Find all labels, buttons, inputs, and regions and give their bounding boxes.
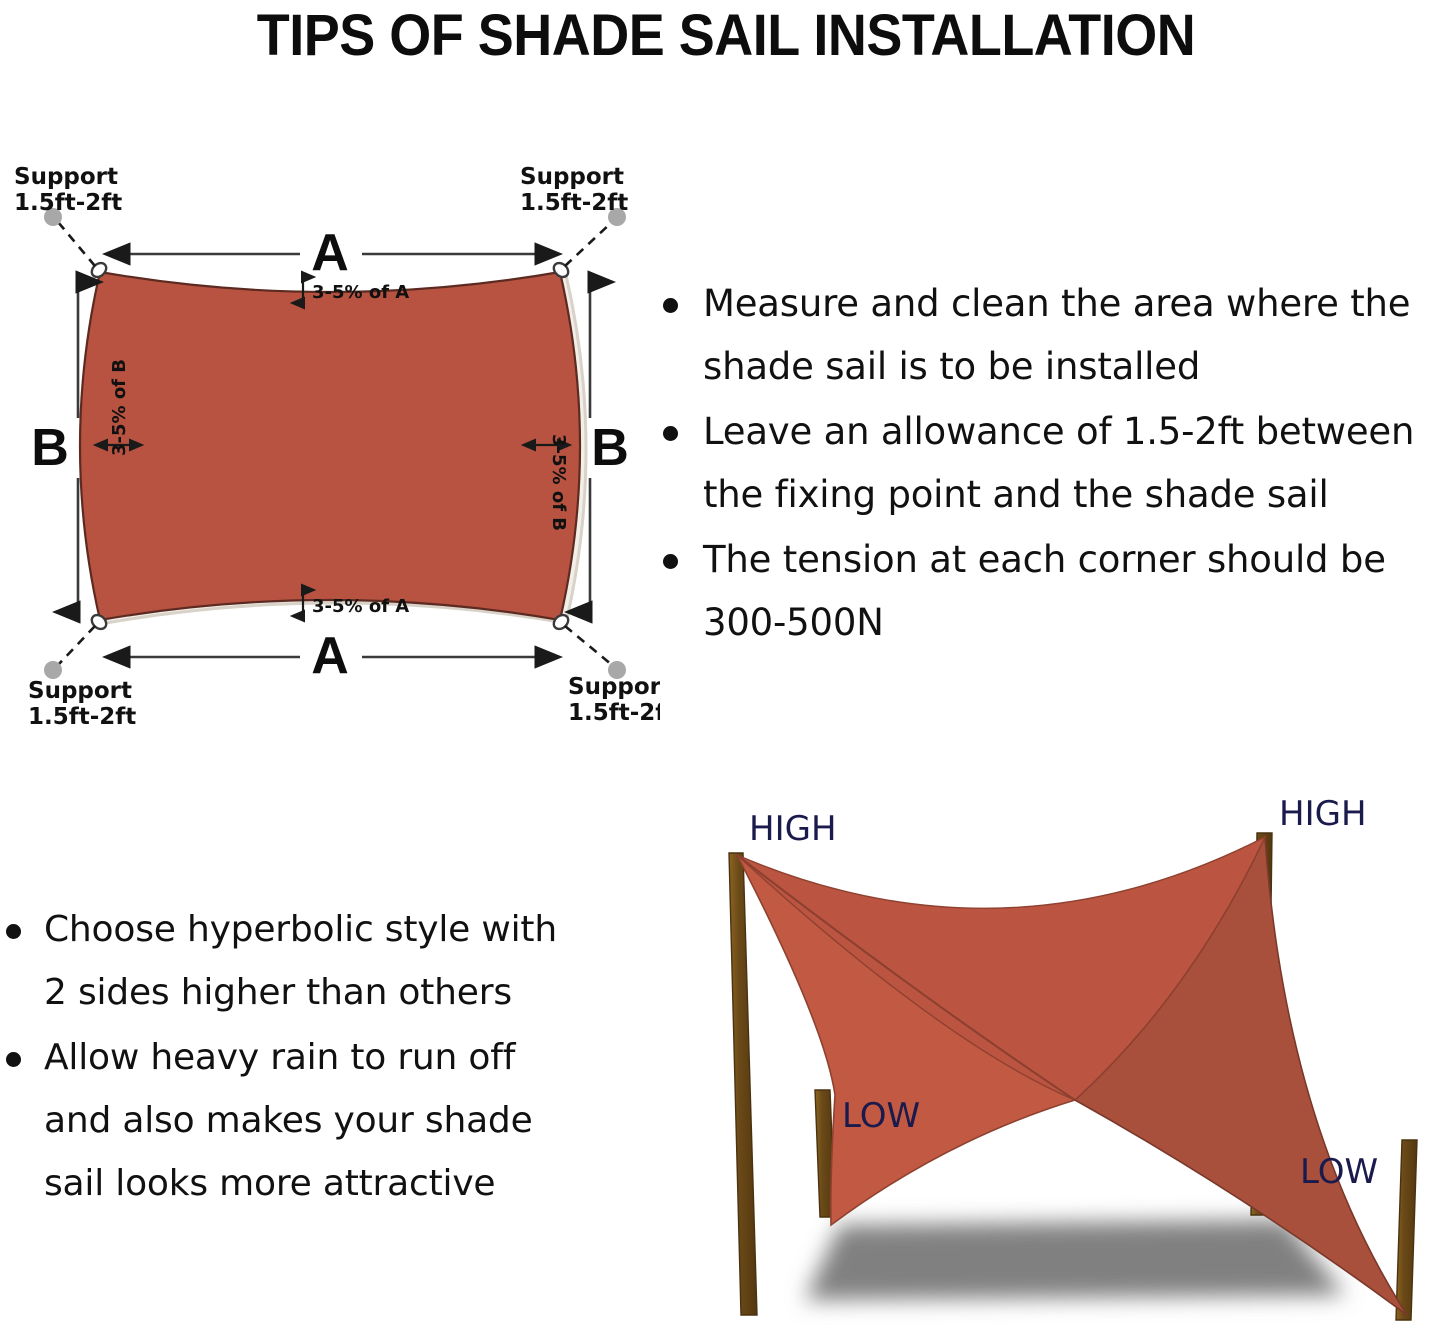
curve-label-top: 3-5% of A <box>312 282 409 303</box>
tip-line-1: Allow heavy rain to run off <box>44 1037 515 1078</box>
support-label-bottom-left-value: 1.5ft-2ft <box>28 704 136 730</box>
curve-label-left: 3-5% of B <box>109 359 130 456</box>
tips-ul-bottom: Choose hyperbolic style with 2 sides hig… <box>0 898 620 1215</box>
hyperbolic-sail-diagram: HIGH HIGH LOW LOW <box>645 795 1452 1325</box>
list-item: Choose hyperbolic style with 2 sides hig… <box>0 898 620 1024</box>
dim-label-left-B: B <box>31 419 69 477</box>
post-right-low <box>1396 1140 1417 1320</box>
tips-list-hyperbolic: Choose hyperbolic style with 2 sides hig… <box>0 898 620 1217</box>
tip-line-2: and also makes your shade <box>44 1100 533 1141</box>
tip-line-1: Measure and clean the area where the <box>703 282 1410 325</box>
tip-line-1: The tension at each corner should be <box>703 538 1386 581</box>
support-label-top-right-value: 1.5ft-2ft <box>520 190 628 216</box>
tips-list-installation: Measure and clean the area where the sha… <box>655 272 1452 656</box>
bullet-icon <box>663 298 678 313</box>
bullet-icon <box>6 924 21 939</box>
dim-label-top-A: A <box>311 224 349 282</box>
ground-shadow <box>805 1220 1345 1300</box>
curve-label-right: 3-5% of B <box>548 434 569 531</box>
list-item: Leave an allowance of 1.5-2ft between th… <box>655 400 1452 526</box>
label-high-left: HIGH <box>749 809 837 849</box>
infographic-page: TIPS OF SHADE SAIL INSTALLATION <box>0 0 1452 1325</box>
tip-line-1: Leave an allowance of 1.5-2ft between <box>703 410 1414 453</box>
dim-label-right-B: B <box>591 419 629 477</box>
support-label-bottom-right-value: 1.5ft-2ft <box>568 700 660 726</box>
tip-line-2: 300-500N <box>703 601 884 644</box>
sail-shape <box>80 272 586 623</box>
rect-sail-diagram: A A B B 3-5% of A 3-5% of A 3-5% of B 3-… <box>0 160 660 730</box>
tip-line-2: 2 sides higher than others <box>44 972 512 1013</box>
label-low-left: LOW <box>842 1096 920 1136</box>
support-label-top-left-value: 1.5ft-2ft <box>14 190 122 216</box>
support-label-bottom-right-title: Support <box>568 674 660 700</box>
list-item: The tension at each corner should be 300… <box>655 528 1452 654</box>
support-label-top-left-title: Support <box>14 164 118 190</box>
list-item: Measure and clean the area where the sha… <box>655 272 1452 398</box>
tip-line-3: sail looks more attractive <box>44 1163 495 1204</box>
dim-label-bottom-A: A <box>311 627 349 685</box>
tip-line-2: the fixing point and the shade sail <box>703 473 1329 516</box>
support-label-top-right-title: Support <box>520 164 624 190</box>
support-label-bottom-left-title: Support <box>28 678 132 704</box>
list-item: Allow heavy rain to run off and also mak… <box>0 1026 620 1215</box>
tips-ul-top: Measure and clean the area where the sha… <box>655 272 1452 654</box>
page-title: TIPS OF SHADE SAIL INSTALLATION <box>51 2 1401 69</box>
post-left-high <box>729 853 757 1315</box>
curve-label-bottom: 3-5% of A <box>312 596 409 617</box>
bullet-icon <box>6 1052 21 1067</box>
label-high-right: HIGH <box>1279 795 1367 834</box>
tip-line-1: Choose hyperbolic style with <box>44 909 557 950</box>
tip-line-2: shade sail is to be installed <box>703 345 1200 388</box>
label-low-right: LOW <box>1300 1152 1378 1192</box>
bullet-icon <box>663 426 678 441</box>
bullet-icon <box>663 554 678 569</box>
